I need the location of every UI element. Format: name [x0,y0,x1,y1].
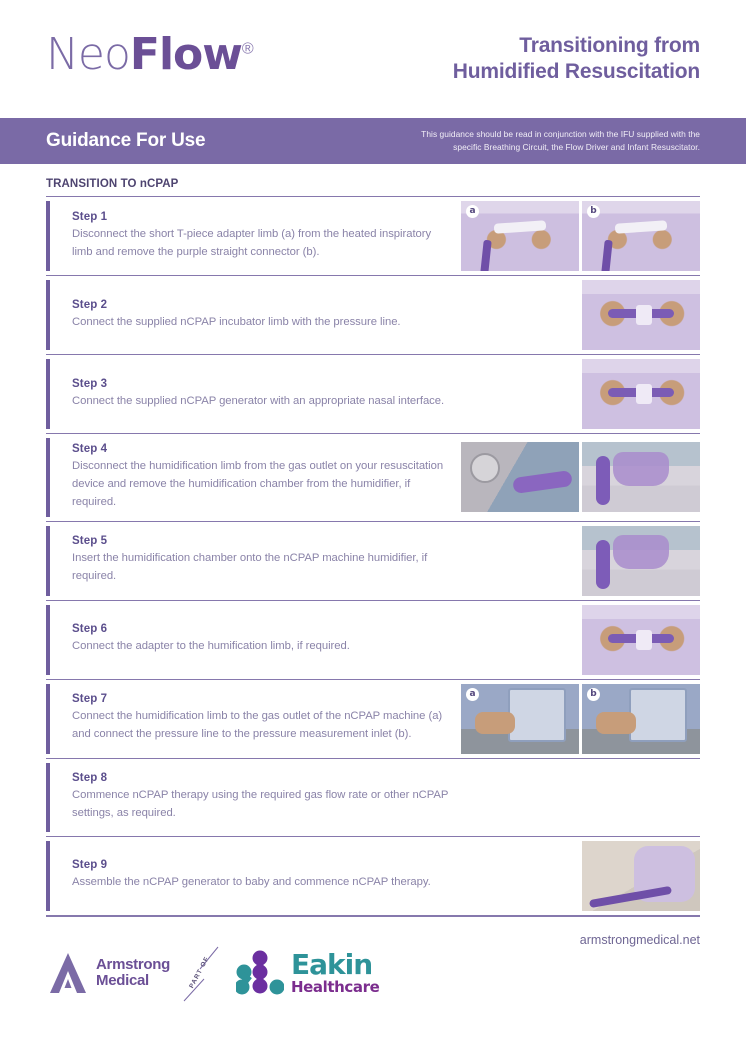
photo-label-badge: a [466,205,479,218]
step-row: Step 8Commence nCPAP therapy using the r… [46,759,700,837]
armstrong-a-mark-icon [46,951,90,995]
logo-flow-text: Flow [130,29,242,80]
armstrong-line-2: Medical [96,972,149,989]
step-photo: b [582,684,700,754]
step-photo [582,280,700,350]
page-title-line-2: Humidified Resuscitation [453,59,700,85]
step-description: Insert the humidification chamber onto t… [72,550,449,586]
eakin-name: Eakin [291,951,379,979]
step-row: Step 7Connect the humidification limb to… [46,680,700,759]
step-body: Step 1Disconnect the short T-piece adapt… [50,197,459,275]
page-header: NeoFlow® Transitioning from Humidified R… [0,0,746,118]
step-label: Step 3 [72,378,449,390]
step-label: Step 8 [72,772,449,784]
steps-list: Step 1Disconnect the short T-piece adapt… [46,196,700,916]
guidance-banner: Guidance For Use This guidance should be… [0,118,746,164]
step-row: Step 9Assemble the nCPAP generator to ba… [46,837,700,916]
step-media [459,837,700,915]
step-photo: b [582,201,700,271]
logo-neo-text: Neo [46,29,130,80]
step-row: Step 2Connect the supplied nCPAP incubat… [46,276,700,355]
step-row: Step 4Disconnect the humidification limb… [46,434,700,522]
step-description: Connect the supplied nCPAP incubator lim… [72,314,449,332]
step-body: Step 6Connect the adapter to the humific… [50,601,459,679]
step-description: Disconnect the humidification limb from … [72,458,449,512]
banner-note-line-2: specific Breathing Circuit, the Flow Dri… [421,141,700,154]
step-media: ab [459,197,700,275]
step-media [459,355,700,433]
step-body: Step 5Insert the humidification chamber … [50,522,459,600]
footer-logos: Armstrong Medical PART OF [46,943,379,1003]
step-body: Step 3Connect the supplied nCPAP generat… [50,355,459,433]
banner-note: This guidance should be read in conjunct… [421,128,700,154]
step-photo [582,841,700,911]
step-photo [582,442,700,512]
step-media [459,601,700,679]
step-description: Disconnect the short T-piece adapter lim… [72,226,449,262]
page-title-line-1: Transitioning from [453,33,700,59]
step-body: Step 9Assemble the nCPAP generator to ba… [50,837,459,915]
website-url[interactable]: armstrongmedical.net [580,933,700,947]
step-row: Step 5Insert the humidification chamber … [46,522,700,601]
eakin-wordmark: Eakin Healthcare [291,951,379,995]
registered-trademark-icon: ® [242,40,253,57]
step-row: Step 1Disconnect the short T-piece adapt… [46,197,700,276]
step-body: Step 7Connect the humidification limb to… [50,680,459,758]
page-title: Transitioning from Humidified Resuscitat… [453,33,700,84]
banner-title: Guidance For Use [46,130,205,152]
step-description: Connect the supplied nCPAP generator wit… [72,393,449,411]
banner-note-line-1: This guidance should be read in conjunct… [421,128,700,141]
armstrong-line-1: Armstrong [96,956,170,973]
step-media [459,276,700,354]
step-photo: a [461,684,579,754]
step-description: Assemble the nCPAP generator to baby and… [72,874,449,892]
step-media [459,434,700,521]
neoflow-logo: NeoFlow® [46,33,253,77]
step-photo: a [461,201,579,271]
step-description: Commence nCPAP therapy using the require… [72,787,449,823]
photo-label-badge: b [587,205,600,218]
step-description: Connect the humidification limb to the g… [72,708,449,744]
step-label: Step 5 [72,535,449,547]
step-media [459,759,700,836]
step-label: Step 1 [72,211,449,223]
page-footer: Armstrong Medical PART OF [46,916,700,1016]
step-label: Step 6 [72,623,449,635]
step-photo [582,526,700,596]
eakin-subtitle: Healthcare [291,980,379,995]
step-photo [461,442,579,512]
armstrong-wordmark: Armstrong Medical [96,957,170,989]
step-body: Step 2Connect the supplied nCPAP incubat… [50,276,459,354]
step-label: Step 4 [72,443,449,455]
section-heading: TRANSITION TO nCPAP [46,178,700,190]
step-photo [582,359,700,429]
part-of-divider: PART OF [174,943,232,1003]
step-label: Step 2 [72,299,449,311]
step-body: Step 8Commence nCPAP therapy using the r… [50,759,459,836]
step-description: Connect the adapter to the humification … [72,638,449,656]
step-photo [582,605,700,675]
eakin-molecule-icon [236,950,284,996]
content-area: TRANSITION TO nCPAP Step 1Disconnect the… [0,178,746,916]
step-label: Step 9 [72,859,449,871]
step-row: Step 6Connect the adapter to the humific… [46,601,700,680]
step-body: Step 4Disconnect the humidification limb… [50,434,459,521]
photo-label-badge: a [466,688,479,701]
step-row: Step 3Connect the supplied nCPAP generat… [46,355,700,434]
step-media: ab [459,680,700,758]
step-label: Step 7 [72,693,449,705]
armstrong-medical-logo: Armstrong Medical [46,951,170,995]
photo-label-badge: b [587,688,600,701]
step-media [459,522,700,600]
eakin-healthcare-logo: Eakin Healthcare [236,950,379,996]
